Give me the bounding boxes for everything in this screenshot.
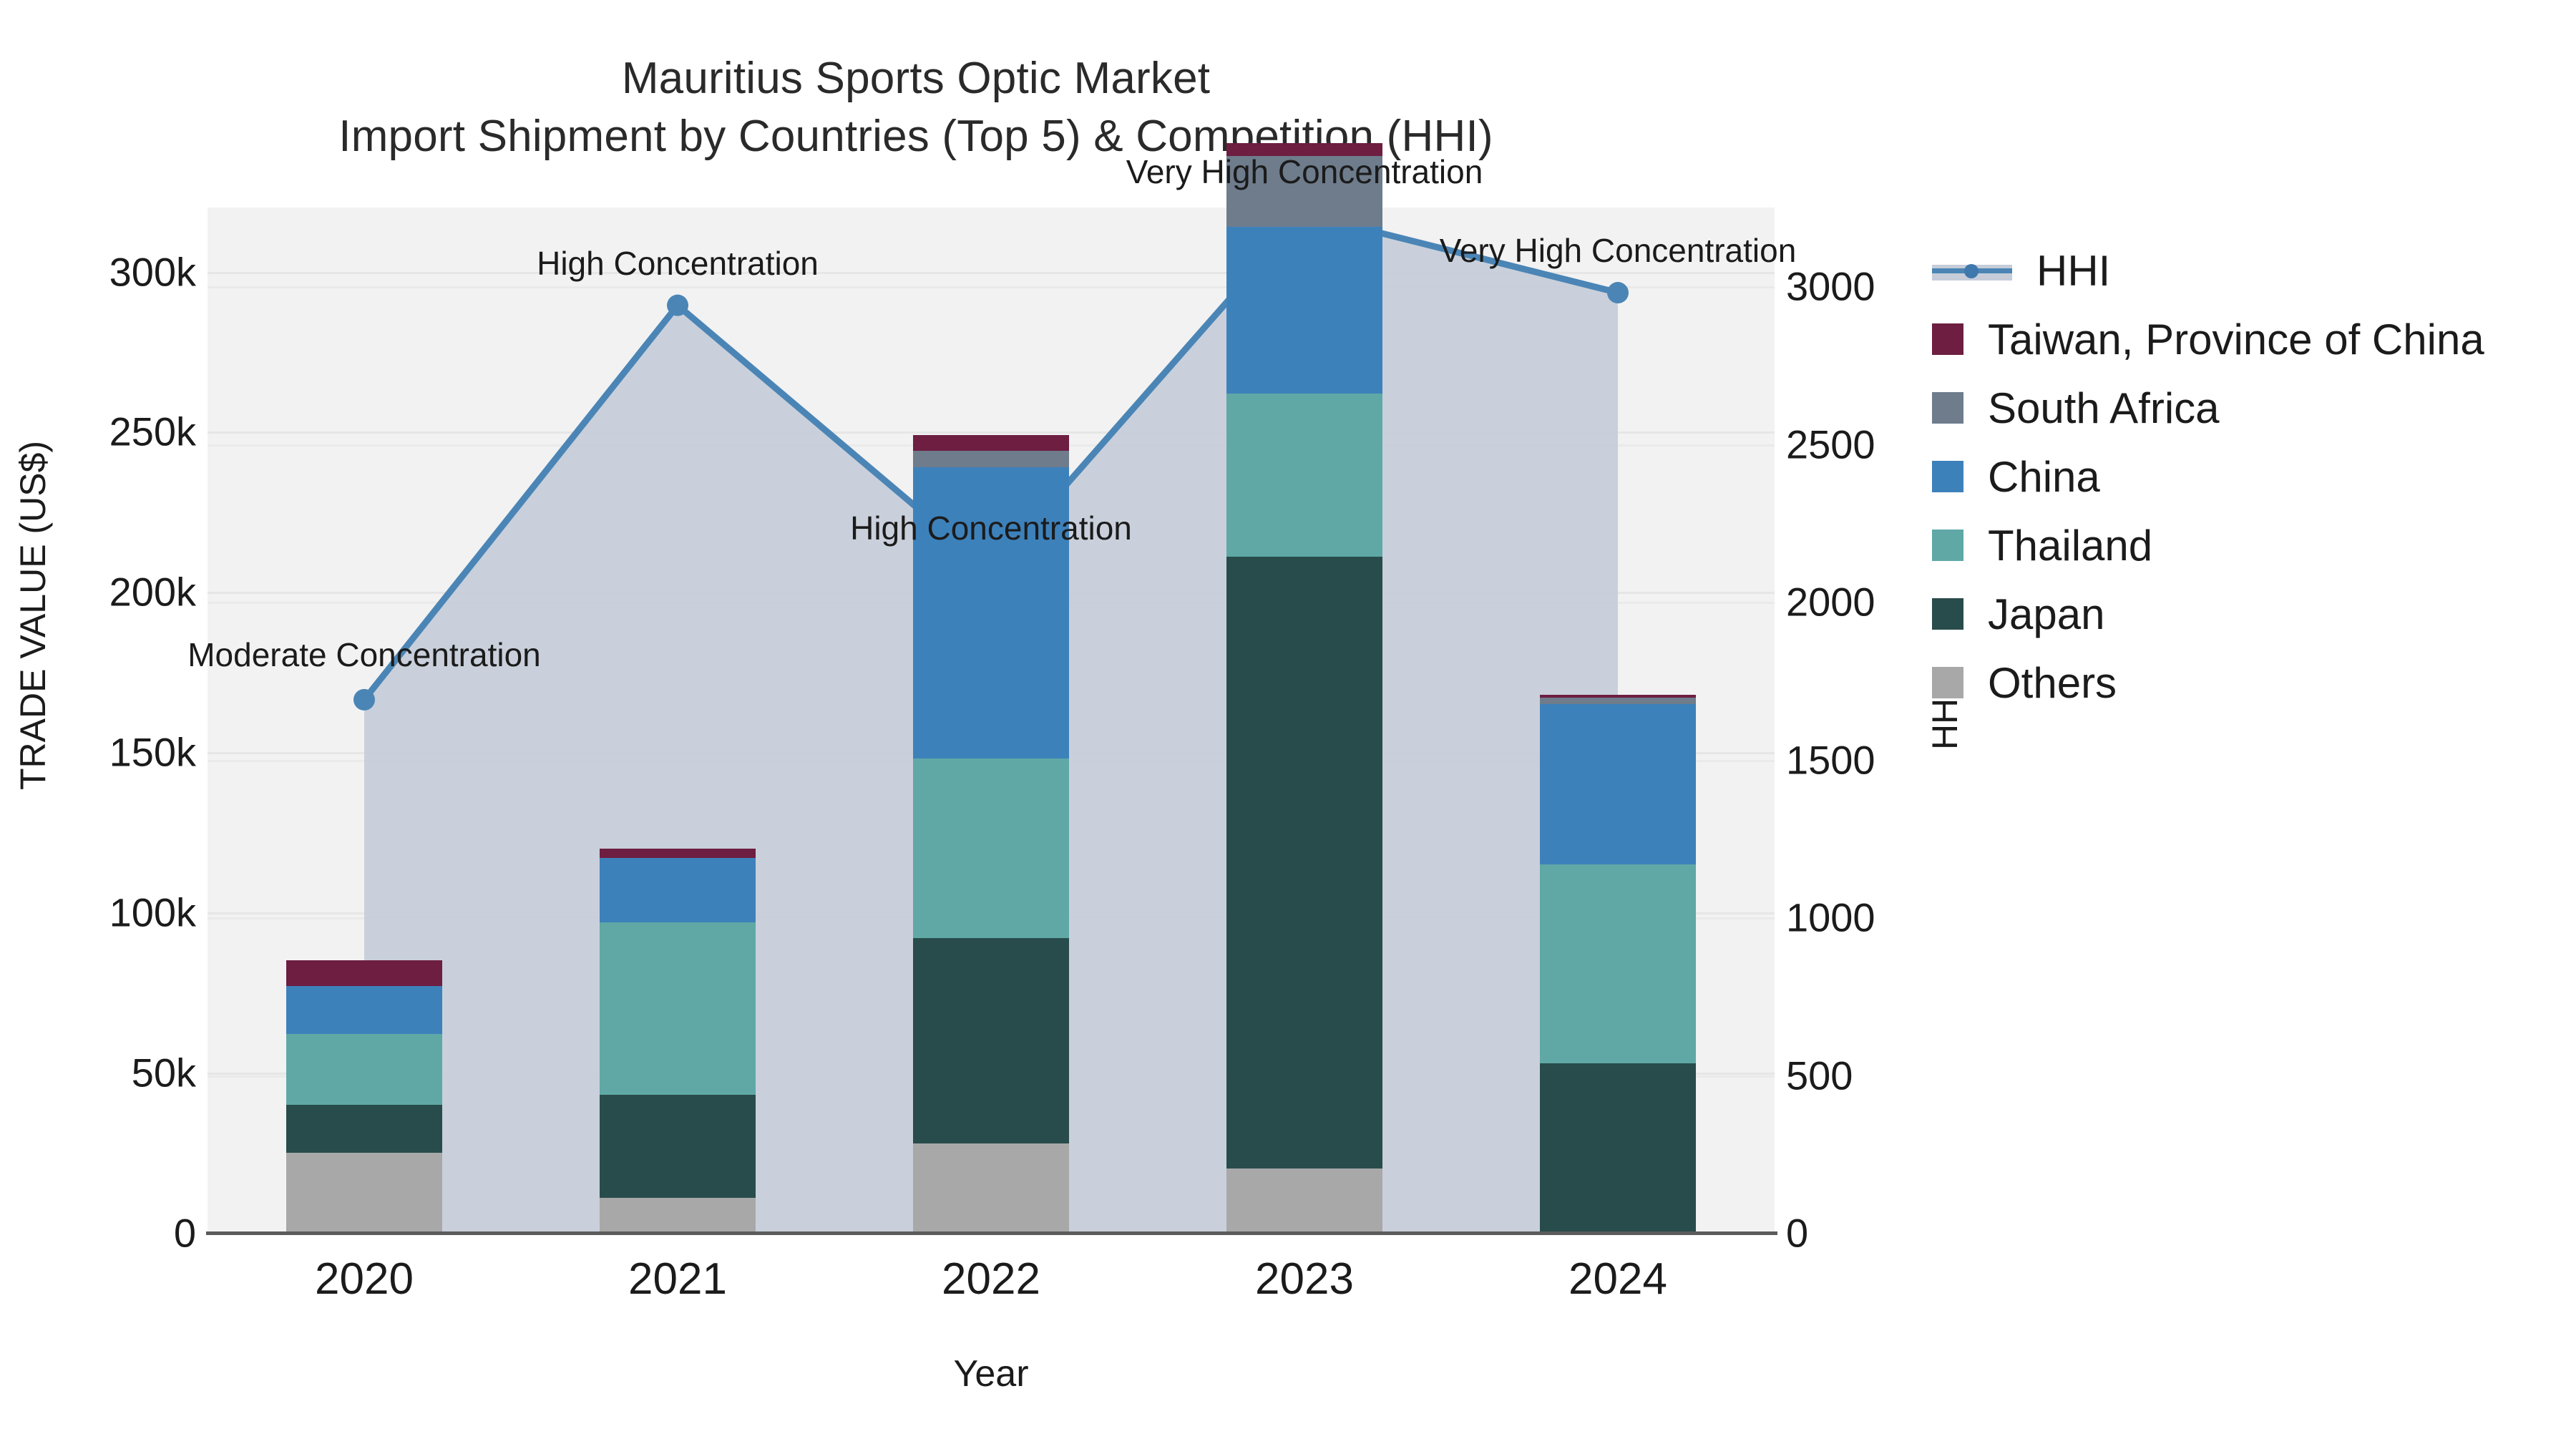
bar-segment-thailand[interactable] <box>600 922 756 1096</box>
x-tick-2022: 2022 <box>942 1254 1040 1304</box>
legend-label: Taiwan, Province of China <box>1988 315 2484 364</box>
bar-2020[interactable] <box>286 208 442 1233</box>
bar-segment-china[interactable] <box>286 986 442 1034</box>
legend-label: Japan <box>1988 590 2104 639</box>
legend-item-south-africa[interactable]: South Africa <box>1932 374 2562 442</box>
legend-item-others[interactable]: Others <box>1932 648 2562 717</box>
y-tick-right: 2000 <box>1786 579 1875 625</box>
legend-swatch-icon <box>1932 392 1963 424</box>
bar-2024[interactable] <box>1540 208 1696 1233</box>
legend-item-japan[interactable]: Japan <box>1932 580 2562 648</box>
legend-item-taiwan-province-of-china[interactable]: Taiwan, Province of China <box>1932 305 2562 374</box>
bar-segment-others[interactable] <box>1226 1169 1382 1233</box>
bar-segment-others[interactable] <box>286 1153 442 1233</box>
y-tick-left: 250k <box>109 409 196 455</box>
chart-title-line-2: Import Shipment by Countries (Top 5) & C… <box>0 108 1832 166</box>
legend-label: HHI <box>2036 246 2110 296</box>
annotation-2022: High Concentration <box>850 509 1132 547</box>
legend-swatch-icon <box>1932 530 1963 561</box>
legend-label: China <box>1988 452 2100 502</box>
annotation-2024: Very High Concentration <box>1440 231 1797 270</box>
chart-title: Mauritius Sports Optic Market Import Shi… <box>0 50 1832 165</box>
bar-segment-china[interactable] <box>600 858 756 922</box>
legend-swatch-icon <box>1932 598 1963 630</box>
legend: HHITaiwan, Province of ChinaSouth Africa… <box>1932 236 2562 717</box>
legend-label: South Africa <box>1988 384 2220 433</box>
y-tick-left: 300k <box>109 248 196 295</box>
bar-segment-south-africa[interactable] <box>913 451 1069 467</box>
y-tick-left: 0 <box>174 1210 196 1257</box>
bar-2023[interactable] <box>1226 208 1382 1233</box>
legend-line-marker-icon <box>1932 255 2012 286</box>
bar-segment-south-africa[interactable] <box>1540 698 1696 704</box>
legend-item-thailand[interactable]: Thailand <box>1932 511 2562 580</box>
bar-segment-taiwan-province-of-china[interactable] <box>1540 695 1696 698</box>
bar-segment-japan[interactable] <box>1540 1063 1696 1233</box>
chart-title-line-1: Mauritius Sports Optic Market <box>0 50 1832 108</box>
y-tick-left: 200k <box>109 569 196 615</box>
y-tick-right: 3000 <box>1786 263 1875 310</box>
x-tick-2020: 2020 <box>315 1254 414 1304</box>
annotation-2023: Very High Concentration <box>1126 152 1483 191</box>
y-tick-right: 1500 <box>1786 736 1875 783</box>
bar-segment-thailand[interactable] <box>1540 864 1696 1063</box>
bar-segment-japan[interactable] <box>1226 557 1382 1169</box>
legend-item-china[interactable]: China <box>1932 442 2562 511</box>
x-axis-line <box>206 1231 1777 1235</box>
x-axis-title: Year <box>953 1352 1028 1395</box>
bar-segment-japan[interactable] <box>600 1095 756 1197</box>
chart-canvas: Mauritius Sports Optic Market Import Shi… <box>0 0 2576 1449</box>
annotation-2020: Moderate Concentration <box>187 635 541 674</box>
bar-segment-thailand[interactable] <box>913 758 1069 938</box>
bar-2022[interactable] <box>913 208 1069 1233</box>
bar-segment-thailand[interactable] <box>1226 394 1382 557</box>
bar-2021[interactable] <box>600 208 756 1233</box>
y-tick-left: 150k <box>109 729 196 776</box>
legend-swatch-icon <box>1932 667 1963 698</box>
legend-swatch-icon <box>1932 461 1963 492</box>
y-tick-right: 2500 <box>1786 421 1875 467</box>
bar-segment-china[interactable] <box>1226 227 1382 394</box>
legend-label: Others <box>1988 658 2117 708</box>
y-tick-left: 50k <box>132 1050 196 1096</box>
y-tick-right: 0 <box>1786 1210 1808 1257</box>
bar-segment-taiwan-province-of-china[interactable] <box>600 849 756 858</box>
legend-label: Thailand <box>1988 521 2152 570</box>
legend-swatch-icon <box>1932 323 1963 355</box>
bar-segment-thailand[interactable] <box>286 1034 442 1105</box>
annotation-2021: High Concentration <box>537 244 819 283</box>
y-axis-left-title: TRADE VALUE (US$) <box>12 441 54 790</box>
bar-segment-others[interactable] <box>600 1198 756 1233</box>
bar-segment-china[interactable] <box>1540 704 1696 864</box>
bar-segment-taiwan-province-of-china[interactable] <box>913 435 1069 451</box>
y-tick-right: 500 <box>1786 1052 1853 1098</box>
x-tick-2023: 2023 <box>1255 1254 1354 1304</box>
bar-segment-japan[interactable] <box>913 938 1069 1143</box>
x-tick-2024: 2024 <box>1568 1254 1667 1304</box>
legend-item-hhi[interactable]: HHI <box>1932 236 2562 305</box>
bar-segment-taiwan-province-of-china[interactable] <box>286 960 442 986</box>
y-tick-left: 100k <box>109 889 196 936</box>
y-tick-right: 1000 <box>1786 894 1875 941</box>
x-tick-2021: 2021 <box>628 1254 727 1304</box>
bar-segment-japan[interactable] <box>286 1105 442 1153</box>
bar-segment-others[interactable] <box>913 1143 1069 1233</box>
